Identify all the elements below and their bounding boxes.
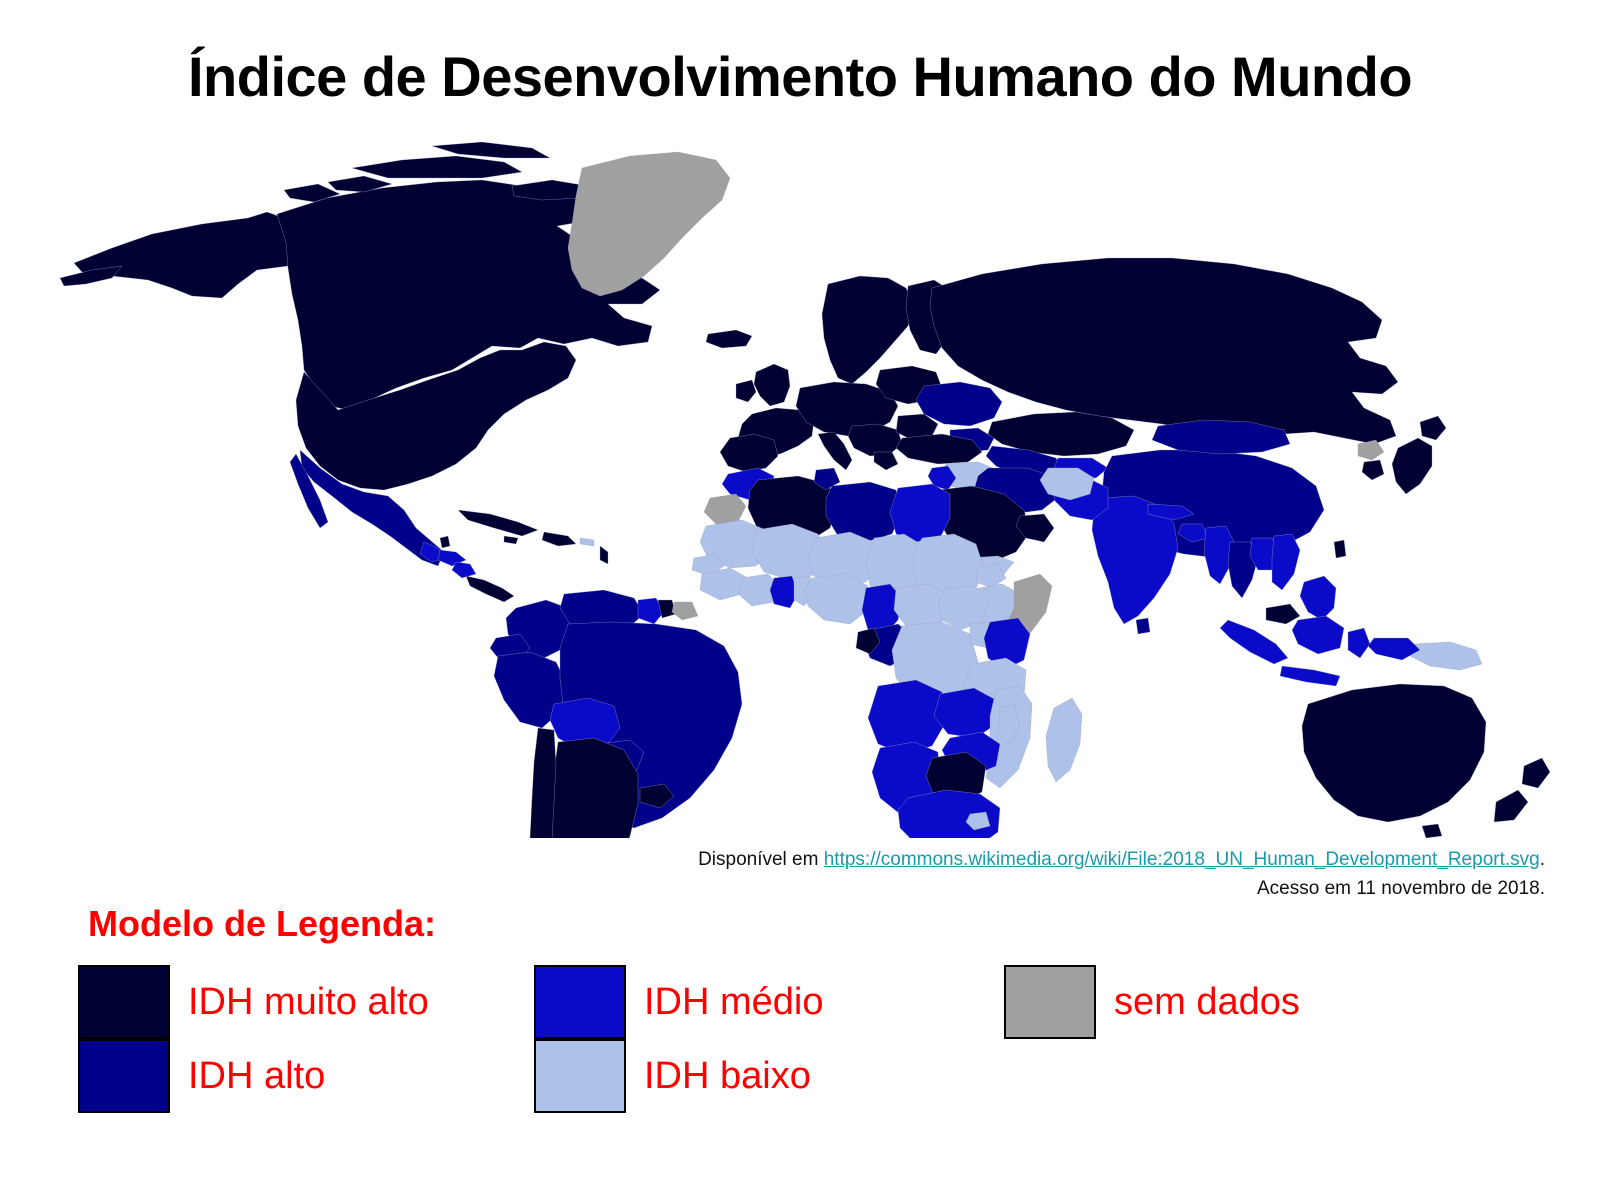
legend-item-low: IDH baixo — [534, 1039, 824, 1113]
region-argentina — [548, 738, 638, 838]
legend-swatch-low — [534, 1039, 626, 1113]
legend-title: Modelo de Legenda: — [88, 903, 436, 945]
source-credit-link[interactable]: https://commons.wikimedia.org/wiki/File:… — [824, 849, 1540, 870]
world-map-container — [52, 138, 1552, 838]
source-credit-suffix: . — [1540, 849, 1545, 870]
source-credit: Disponível em https://commons.wikimedia.… — [0, 845, 1545, 904]
legend-label-high: IDH alto — [188, 1057, 325, 1095]
legend-item-no-data: sem dados — [1004, 965, 1300, 1039]
region-taiwan — [1334, 540, 1346, 558]
legend-label-low: IDH baixo — [644, 1057, 811, 1095]
legend-swatch-very-high — [78, 965, 170, 1039]
legend-swatch-medium — [534, 965, 626, 1039]
legend-swatch-high — [78, 1039, 170, 1113]
legend-column-2: IDH médio IDH baixo — [534, 965, 824, 1113]
region-sri-lanka — [1136, 618, 1150, 634]
source-credit-line-1: Disponível em https://commons.wikimedia.… — [0, 845, 1545, 874]
legend-column-3: sem dados — [1004, 965, 1300, 1039]
legend-item-medium: IDH médio — [534, 965, 824, 1039]
region-egypt — [890, 484, 950, 542]
slide-canvas: Índice de Desenvolvimento Humano do Mund… — [0, 0, 1600, 1200]
legend-label-very-high: IDH muito alto — [188, 983, 429, 1021]
legend-label-medium: IDH médio — [644, 983, 824, 1021]
hdi-choropleth-world-map — [52, 138, 1552, 838]
legend-label-no-data: sem dados — [1114, 983, 1300, 1021]
page-title: Índice de Desenvolvimento Humano do Mund… — [0, 46, 1600, 108]
source-access-line: Acesso em 11 novembro de 2018. — [0, 874, 1545, 903]
legend-item-very-high: IDH muito alto — [78, 965, 429, 1039]
source-credit-prefix: Disponível em — [698, 849, 824, 870]
legend-swatch-no-data — [1004, 965, 1096, 1039]
legend-item-high: IDH alto — [78, 1039, 429, 1113]
region-belize — [440, 536, 450, 548]
legend-column-1: IDH muito alto IDH alto — [78, 965, 429, 1113]
